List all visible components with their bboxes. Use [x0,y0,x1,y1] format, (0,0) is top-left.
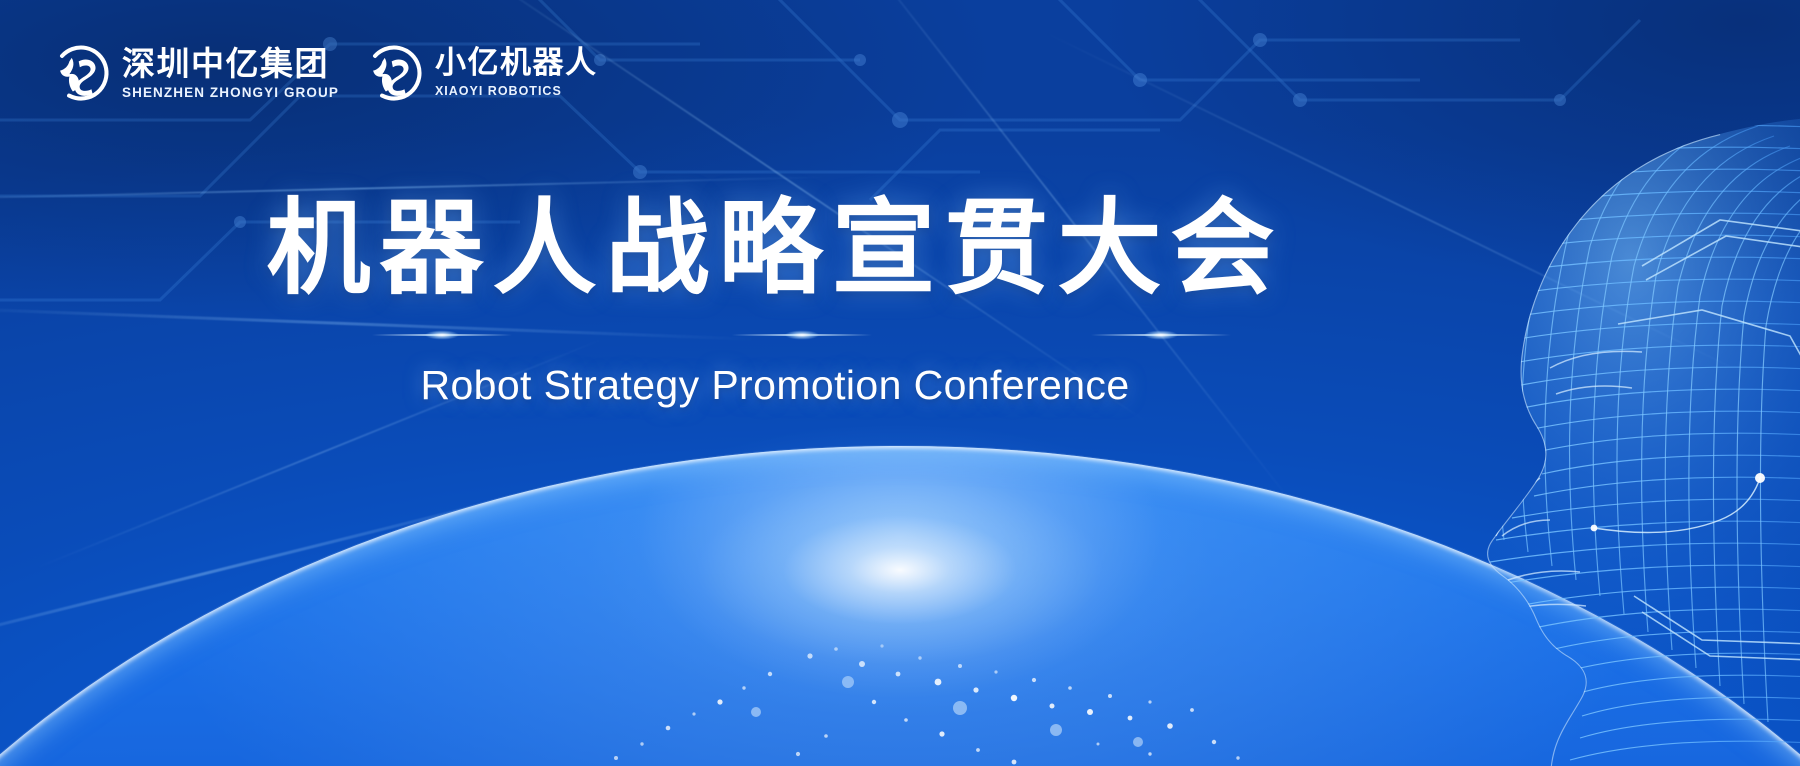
zhongyi-circle-emblem-icon [52,44,110,102]
accent-streak-center [732,334,872,336]
accent-streak-right [1091,334,1231,336]
logo-name-cn: 小亿机器人 [435,48,598,79]
logo-shenzhen-zhongyi-group[interactable]: 深圳中亿集团 SHENZHEN ZHONGYI GROUP [52,44,339,102]
earth-horizon-graphic [0,346,1800,766]
xiaoyi-circle-emblem-icon [365,44,423,102]
earth-city-lights [270,506,1530,766]
logo-name-cn: 深圳中亿集团 [122,47,339,80]
page-title: 机器人战略宣贯大会 [0,196,1550,300]
logo-bar: 深圳中亿集团 SHENZHEN ZHONGYI GROUP 小亿机器人 XIAO… [52,44,597,102]
logo-name-en: SHENZHEN ZHONGYI GROUP [122,86,339,100]
accent-streak-left [372,334,512,336]
conference-poster: 深圳中亿集团 SHENZHEN ZHONGYI GROUP 小亿机器人 XIAO… [0,0,1800,766]
earth-atmosphere-glow [0,432,1800,766]
logo-name-en: XIAOYI ROBOTICS [435,85,598,98]
earth-limb-highlight [0,446,1800,766]
title-accent-row [0,322,1550,348]
sunrise-glow [450,360,1350,766]
logo-xiaoyi-robotics[interactable]: 小亿机器人 XIAOYI ROBOTICS [365,44,598,102]
earth-sphere [0,446,1800,766]
page-subtitle: Robot Strategy Promotion Conference [0,362,1550,409]
headline-block: 机器人战略宣贯大会 Robot Strategy Promotion Confe… [0,196,1550,409]
